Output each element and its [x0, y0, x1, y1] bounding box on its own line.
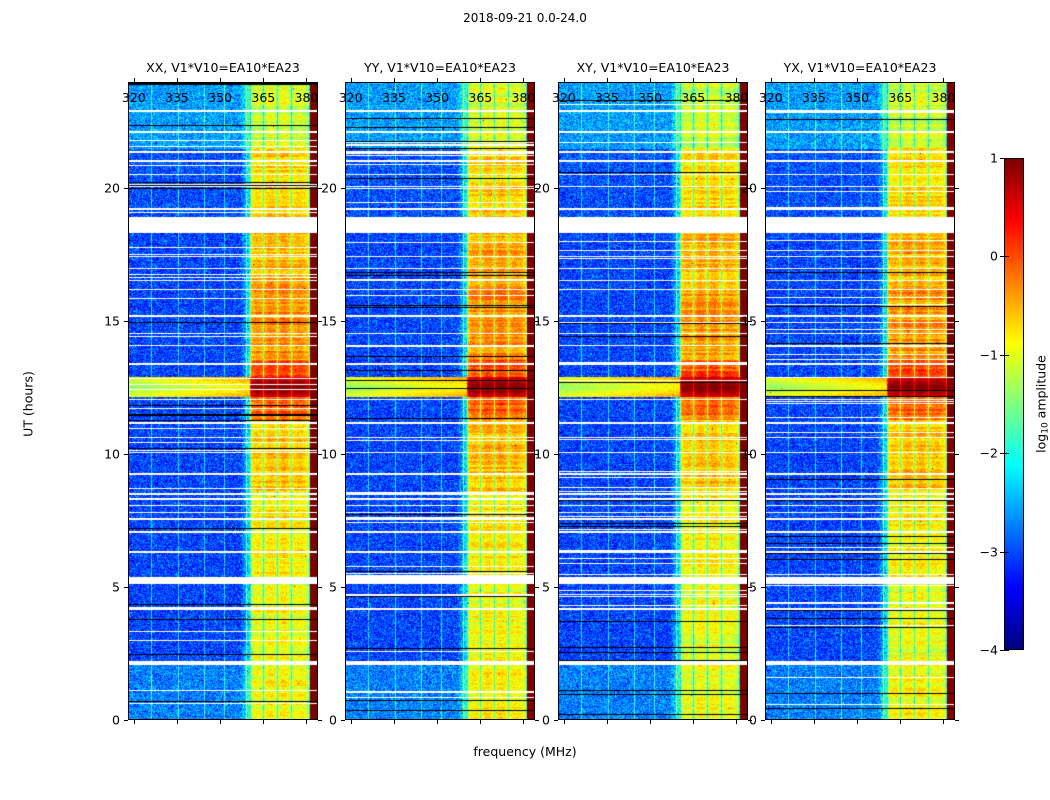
y-tick-label: 15: [104, 314, 120, 329]
y-tick-mark-right: [535, 720, 539, 721]
y-tick-label: 20: [534, 181, 550, 196]
colorbar-tick-label: 1: [990, 151, 998, 166]
y-tick-label: 5: [329, 580, 337, 595]
y-tick-label: 10: [741, 447, 757, 462]
x-tick-label: 380: [932, 90, 956, 742]
y-tick-mark: [554, 720, 558, 721]
y-tick-label: 15: [741, 314, 757, 329]
y-tick-label: 5: [542, 580, 550, 595]
x-tick-mark-top: [771, 78, 772, 82]
panel-title: YY, V1*V10=EA10*EA23: [364, 60, 516, 75]
x-tick-label: 335: [802, 90, 826, 742]
y-tick-label: 20: [104, 181, 120, 196]
x-tick-mark-top: [220, 78, 221, 82]
colorbar-tick-mark-inner: [1004, 650, 1009, 651]
colorbar-tick-label: 0: [990, 249, 998, 264]
x-tick-mark-top: [650, 78, 651, 82]
y-tick-mark: [341, 720, 345, 721]
y-tick-label: 0: [329, 713, 337, 728]
x-tick-mark-top: [306, 78, 307, 82]
x-tick-label: 380: [512, 90, 536, 742]
y-tick-mark-right: [955, 720, 959, 721]
y-tick-mark: [341, 587, 345, 588]
x-tick-mark-top: [900, 78, 901, 82]
x-tick-label: 335: [595, 90, 619, 742]
x-tick-mark-top: [134, 78, 135, 82]
y-tick-mark: [554, 587, 558, 588]
colorbar-tick-mark-inner: [1004, 453, 1009, 454]
colorbar-tick-mark-inner: [1004, 256, 1009, 257]
x-tick-label: 365: [681, 90, 705, 742]
y-tick-label: 20: [321, 181, 337, 196]
y-tick-mark: [554, 454, 558, 455]
y-tick-mark: [124, 321, 128, 322]
y-tick-label: 10: [534, 447, 550, 462]
colorbar-tick-label: −1: [980, 347, 998, 362]
y-tick-mark-right: [955, 454, 959, 455]
y-tick-label: 5: [112, 580, 120, 595]
x-tick-mark-top: [351, 78, 352, 82]
figure-suptitle: 2018-09-21 0.0-24.0: [0, 11, 1050, 25]
y-tick-mark: [554, 321, 558, 322]
y-tick-mark: [761, 188, 765, 189]
y-tick-mark: [761, 321, 765, 322]
panel-title: XY, V1*V10=EA10*EA23: [577, 60, 730, 75]
y-tick-mark-right: [318, 587, 322, 588]
colorbar-gradient: [1004, 158, 1024, 650]
y-tick-label: 15: [534, 314, 550, 329]
waterfall-panel-xx: XX, V1*V10=EA10*EA2332033535036538005101…: [128, 82, 318, 720]
x-tick-label: 365: [251, 90, 275, 742]
x-tick-label: 350: [208, 90, 232, 742]
y-tick-mark: [124, 454, 128, 455]
x-tick-label: 380: [295, 90, 319, 742]
y-tick-label: 0: [542, 713, 550, 728]
y-tick-mark: [124, 188, 128, 189]
y-tick-mark: [124, 587, 128, 588]
colorbar-label-main: log: [1034, 434, 1049, 453]
colorbar-label: log10 amplitude: [1034, 355, 1049, 453]
x-tick-mark-top: [523, 78, 524, 82]
panel-title: YX, V1*V10=EA10*EA23: [784, 60, 937, 75]
x-tick-mark-top: [814, 78, 815, 82]
x-tick-mark-top: [607, 78, 608, 82]
waterfall-panel-yy: YY, V1*V10=EA10*EA2332033535036538005101…: [345, 82, 535, 720]
colorbar-tick-label: −2: [980, 446, 998, 461]
y-tick-label: 10: [321, 447, 337, 462]
figure-canvas: 2018-09-21 0.0-24.0 XX, V1*V10=EA10*EA23…: [0, 0, 1050, 800]
colorbar-tick-mark-inner: [1004, 158, 1009, 159]
colorbar-tick-mark-inner: [1004, 552, 1009, 553]
colorbar: −4−3−2−101: [1004, 158, 1024, 650]
y-tick-label: 0: [112, 713, 120, 728]
colorbar-tick-mark-inner: [1004, 355, 1009, 356]
y-tick-mark: [124, 720, 128, 721]
y-tick-label: 10: [104, 447, 120, 462]
x-tick-mark-top: [857, 78, 858, 82]
y-tick-label: 15: [321, 314, 337, 329]
y-tick-mark-right: [318, 720, 322, 721]
y-tick-mark-right: [955, 587, 959, 588]
x-tick-label: 365: [888, 90, 912, 742]
x-tick-mark-top: [394, 78, 395, 82]
x-tick-mark-top: [263, 78, 264, 82]
y-tick-mark: [341, 454, 345, 455]
y-tick-mark: [554, 188, 558, 189]
colorbar-tick-label: −3: [980, 544, 998, 559]
x-axis-label: frequency (MHz): [0, 744, 1050, 759]
x-tick-mark-top: [943, 78, 944, 82]
waterfall-panel-xy: XY, V1*V10=EA10*EA2332033535036538005101…: [558, 82, 748, 720]
y-tick-mark-right: [955, 188, 959, 189]
x-tick-label: 335: [382, 90, 406, 742]
colorbar-tick-label: −4: [980, 643, 998, 658]
x-tick-label: 350: [425, 90, 449, 742]
x-tick-mark-top: [480, 78, 481, 82]
y-tick-mark-right: [955, 321, 959, 322]
y-tick-mark: [341, 321, 345, 322]
x-tick-mark-top: [177, 78, 178, 82]
x-tick-label: 350: [845, 90, 869, 742]
y-axis-label: UT (hours): [21, 371, 36, 437]
colorbar-label-tail: amplitude: [1034, 355, 1049, 422]
y-tick-mark: [761, 454, 765, 455]
y-tick-mark: [761, 587, 765, 588]
y-tick-mark-right: [535, 587, 539, 588]
y-tick-mark: [761, 720, 765, 721]
x-tick-mark-top: [564, 78, 565, 82]
x-tick-label: 365: [468, 90, 492, 742]
colorbar-label-sub: 10: [1041, 422, 1050, 433]
y-tick-label: 0: [749, 713, 757, 728]
x-tick-mark-top: [693, 78, 694, 82]
x-tick-label: 335: [165, 90, 189, 742]
x-tick-mark-top: [437, 78, 438, 82]
x-tick-mark-top: [736, 78, 737, 82]
x-tick-label: 350: [638, 90, 662, 742]
waterfall-panel-yx: YX, V1*V10=EA10*EA2332033535036538005101…: [765, 82, 955, 720]
y-tick-mark: [341, 188, 345, 189]
panel-title: XX, V1*V10=EA10*EA23: [146, 60, 300, 75]
y-tick-label: 5: [749, 580, 757, 595]
y-tick-label: 20: [741, 181, 757, 196]
